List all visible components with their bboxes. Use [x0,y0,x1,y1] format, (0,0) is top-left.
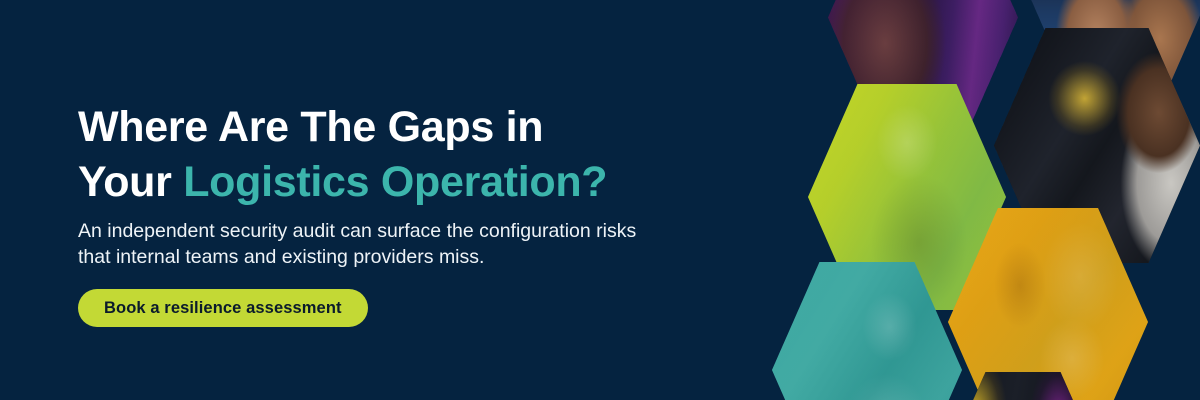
banner-content: Where Are The Gaps in Your Logistics Ope… [78,0,808,400]
headline-line-2-plain: Your [78,158,183,206]
banner-subheading: An independent security audit can surfac… [78,218,808,270]
subheading-line-1: An independent security audit can surfac… [78,218,808,244]
book-assessment-button[interactable]: Book a resilience assessment [78,289,368,327]
promo-banner: Where Are The Gaps in Your Logistics Ope… [0,0,1200,400]
subheading-line-2: that internal teams and existing provide… [78,244,808,270]
page-title: Where Are The Gaps in Your Logistics Ope… [78,100,607,210]
headline-line-2: Your Logistics Operation? [78,155,607,210]
headline-accent-text: Logistics Operation? [183,158,607,206]
hexagon-photo-collage [780,0,1200,400]
headline-line-1: Where Are The Gaps in [78,100,607,155]
